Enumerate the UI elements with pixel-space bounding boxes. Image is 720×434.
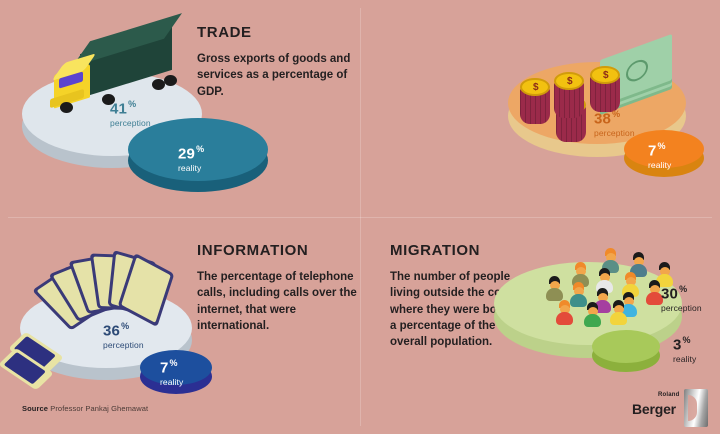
capital-perception-unit: %: [612, 109, 620, 119]
logo-b-glyph: [684, 389, 708, 427]
trade-body: Gross exports of goods and services as a…: [197, 51, 352, 100]
migration-reality-stat: 3% reality: [673, 336, 696, 364]
source-text: Professor Pankaj Ghemawat: [50, 404, 148, 413]
migration-perception-caption: perception: [661, 304, 702, 313]
migration-reality-caption: reality: [673, 355, 696, 364]
logo-prefix: Roland: [658, 392, 680, 398]
trade-perception-unit: %: [128, 99, 136, 109]
capital-reality-unit: %: [658, 141, 666, 151]
information-body: The percentage of telephone calls, inclu…: [197, 269, 359, 334]
migration-heading: MIGRATION: [390, 243, 530, 258]
migration-reality-value: 3: [673, 336, 682, 353]
money-barrel-back-icon: $: [590, 66, 620, 112]
migration-reality-disc: [592, 330, 660, 372]
logo-name: Berger: [632, 401, 676, 417]
migration-perception-value: 30: [661, 285, 678, 302]
infographic-canvas: 41% perception 29% reality TRADE Gross e…: [0, 0, 720, 434]
trade-perception-value: 41: [110, 100, 127, 117]
trade-text-block: TRADE Gross exports of goods and service…: [197, 25, 352, 100]
capital-reality-stat: 7% reality: [648, 142, 671, 170]
migration-perception-stat: 30% perception: [661, 285, 702, 313]
capital-reality-caption: reality: [648, 161, 671, 170]
money-barrel-mid-icon: $: [554, 72, 584, 118]
money-barrels-icon: $: [520, 78, 550, 124]
migration-perception-unit: %: [679, 284, 687, 294]
information-heading: INFORMATION: [197, 243, 359, 258]
migration-reality-unit: %: [683, 335, 691, 345]
quadrant-information: INFORMATION The percentage of telephone …: [0, 217, 360, 434]
source-label: Source: [22, 404, 48, 413]
quadrant-trade: 41% perception 29% reality TRADE Gross e…: [0, 0, 360, 217]
trade-reality-stat: 29% reality: [178, 145, 204, 173]
trade-reality-value: 29: [178, 145, 195, 162]
source-note: Source Professor Pankaj Ghemawat: [22, 404, 148, 413]
capital-perception-value: 38: [594, 110, 611, 127]
trade-reality-unit: %: [196, 144, 204, 154]
roland-berger-logo: Roland Berger: [632, 389, 708, 429]
capital-reality-value: 7: [648, 142, 657, 159]
trade-reality-caption: reality: [178, 164, 204, 173]
information-text-block: INFORMATION The percentage of telephone …: [197, 243, 359, 334]
trade-heading: TRADE: [197, 25, 352, 40]
